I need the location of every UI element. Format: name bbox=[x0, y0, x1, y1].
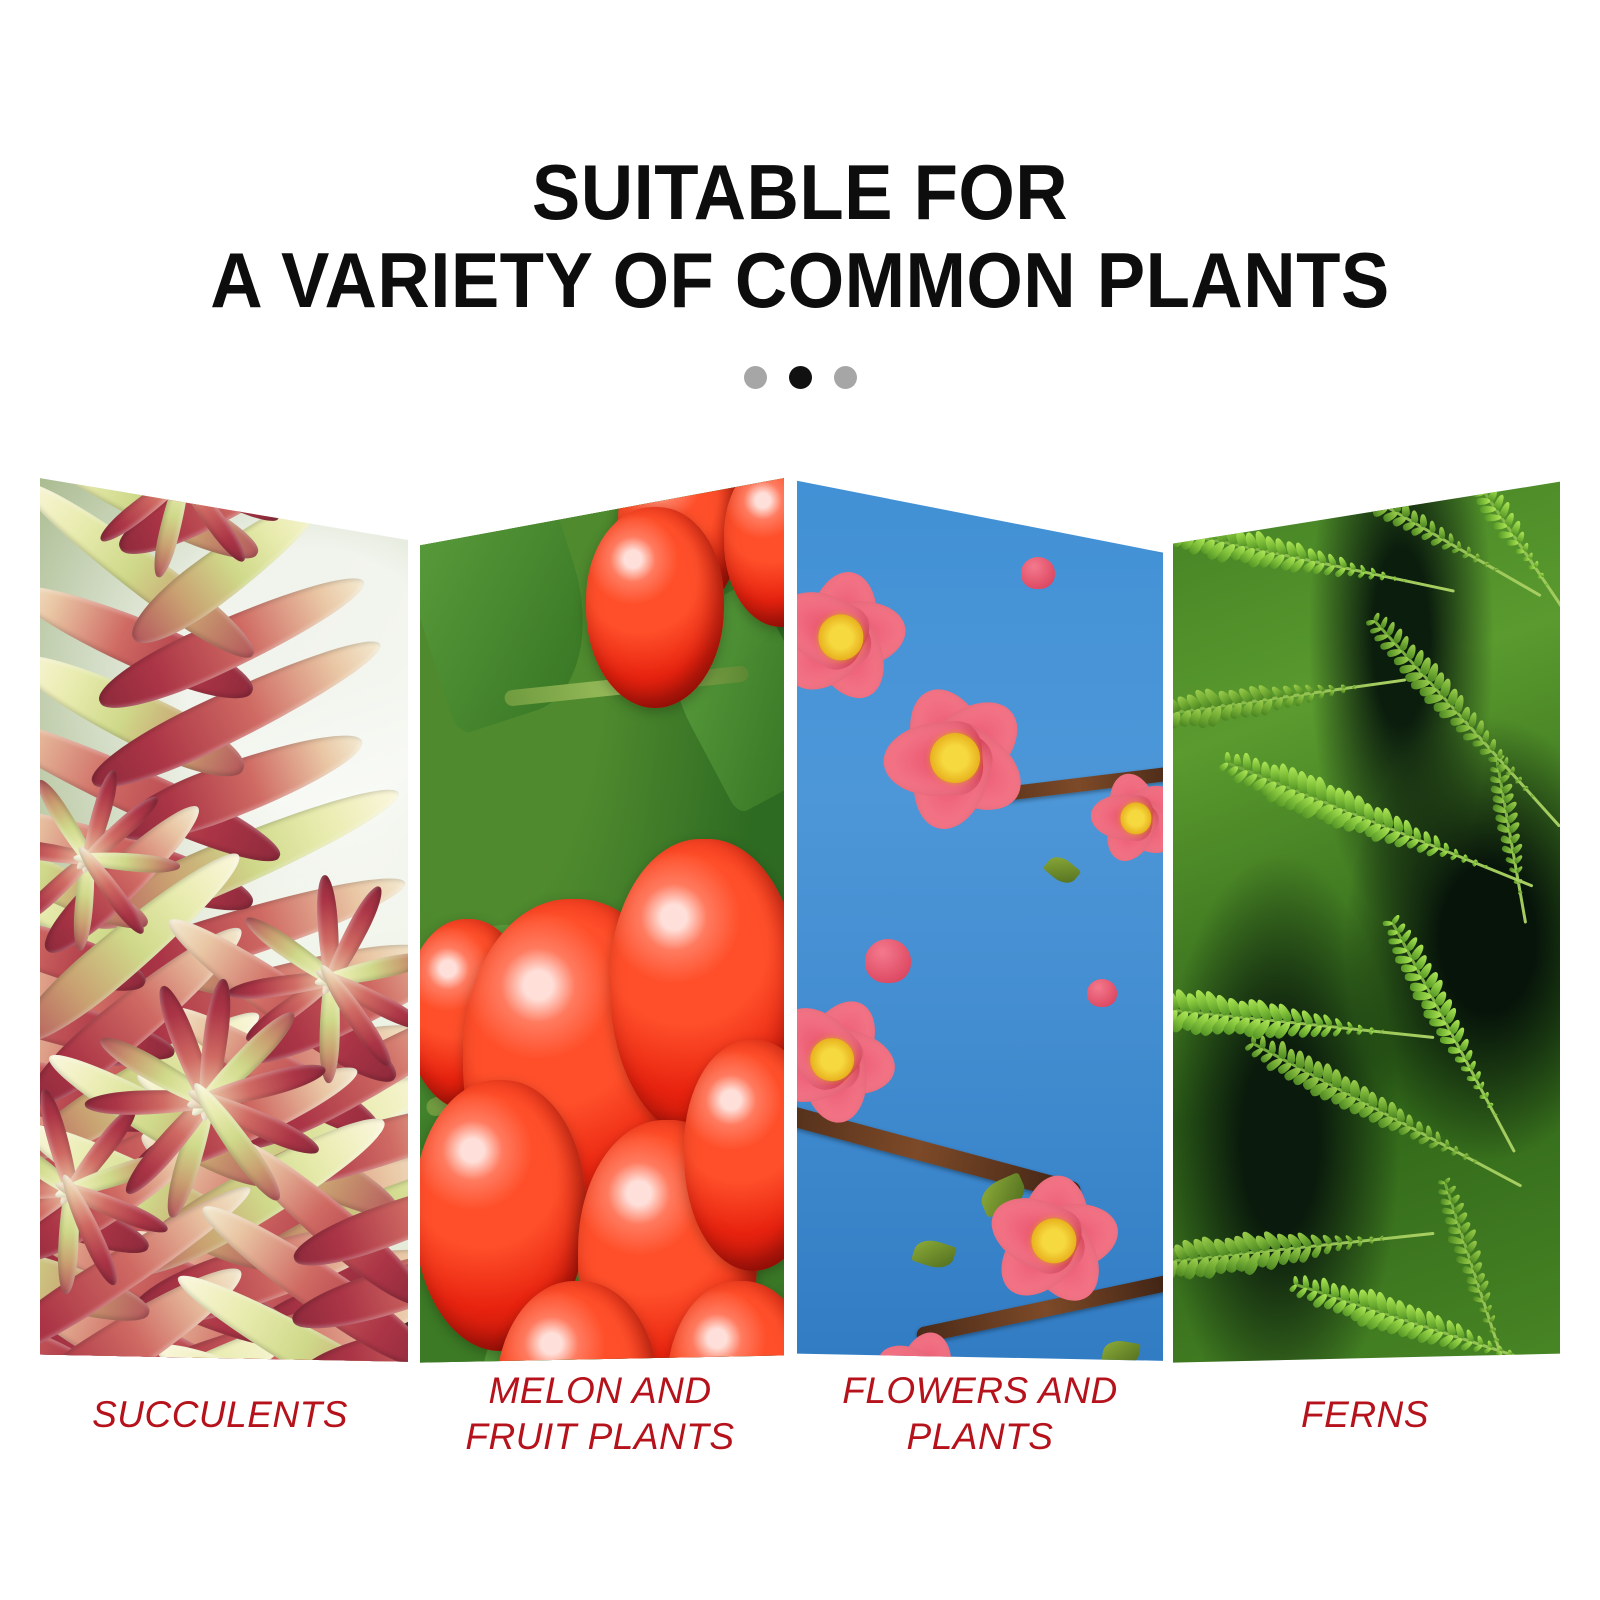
fern-pinna bbox=[1348, 470, 1357, 487]
fern-pinna bbox=[1545, 583, 1547, 587]
succulent-leaf bbox=[40, 1361, 148, 1368]
fern-pinna bbox=[1325, 478, 1346, 495]
blossom-stamens bbox=[930, 733, 980, 783]
panel-fruit-plants-image bbox=[420, 470, 784, 1368]
fern-pinna bbox=[1463, 732, 1479, 741]
blossom-petal bbox=[1113, 470, 1163, 497]
blossom-petal bbox=[1104, 470, 1159, 497]
panel-succulents-image bbox=[40, 470, 408, 1368]
fern-pinna bbox=[1462, 552, 1470, 559]
fern-pinna bbox=[1292, 470, 1309, 472]
succulent-leaf bbox=[111, 1361, 408, 1368]
caption-succulents: SUCCULENTS bbox=[20, 1392, 420, 1438]
fern-pinna bbox=[1457, 470, 1467, 471]
tomato-artwork bbox=[420, 470, 784, 1368]
fern-pinna bbox=[1374, 486, 1383, 502]
fern-pinna bbox=[1467, 481, 1479, 489]
blossom-petal bbox=[1105, 470, 1157, 519]
fern-pinna bbox=[1233, 754, 1241, 767]
fern-pinna bbox=[1507, 540, 1519, 546]
fern-pinna bbox=[1344, 488, 1363, 504]
fern-pinna bbox=[1295, 1050, 1304, 1068]
fern-pinna bbox=[1489, 756, 1499, 762]
fern-pinna bbox=[1395, 955, 1412, 963]
caption-melon-and-fruit-plants: MELON AND FRUIT PLANTS bbox=[400, 1368, 800, 1460]
fern-background bbox=[1173, 470, 1560, 1368]
fern-pinna bbox=[1173, 512, 1178, 532]
succulent-leaf bbox=[79, 470, 200, 487]
fern-pinna bbox=[1356, 474, 1365, 491]
fern-pinna bbox=[1549, 1365, 1551, 1368]
fern-pinna bbox=[1383, 491, 1392, 507]
succulent-leaf bbox=[143, 470, 198, 496]
fern-pinna bbox=[1493, 523, 1507, 530]
fern-pinna bbox=[1548, 1366, 1552, 1368]
fern-pinna bbox=[1302, 470, 1318, 476]
panel-ferns-image bbox=[1173, 470, 1560, 1368]
blossom-stamens bbox=[811, 1038, 855, 1082]
blossom-artwork bbox=[797, 470, 1163, 1368]
fern-pinna bbox=[1401, 964, 1417, 972]
fern-pinna bbox=[1365, 480, 1374, 498]
fern-artwork bbox=[1173, 470, 1560, 1368]
blossom-petal bbox=[892, 1355, 964, 1368]
fern-pinna bbox=[1330, 470, 1338, 476]
blossom-stamens bbox=[1114, 470, 1141, 490]
caption-ferns: FERNS bbox=[1160, 1392, 1570, 1438]
fern-pinna bbox=[1353, 493, 1372, 509]
fern-pinna bbox=[1287, 1049, 1295, 1064]
fern-pinna bbox=[1321, 470, 1329, 471]
fern-pinna bbox=[1311, 470, 1327, 481]
fern-pinna bbox=[1387, 929, 1397, 935]
fern-pinna bbox=[1501, 1361, 1504, 1363]
caption-flowers-and-plants: FLOWERS AND PLANTS bbox=[780, 1368, 1180, 1460]
fern-pinna bbox=[1392, 947, 1407, 954]
fern-pinna bbox=[1389, 938, 1403, 944]
fern-pinna bbox=[1498, 531, 1513, 538]
fern-pinna bbox=[1538, 1363, 1542, 1365]
fern-pinna bbox=[1366, 619, 1376, 626]
fern-pinna bbox=[1463, 473, 1474, 480]
flower-bud bbox=[1021, 557, 1055, 589]
blossom-petal bbox=[1085, 470, 1151, 501]
fern-pinna bbox=[1405, 973, 1422, 982]
fern-pinna bbox=[1175, 517, 1188, 535]
fern-pinna bbox=[1528, 1360, 1532, 1362]
flower-leaf bbox=[1011, 473, 1049, 504]
succulent-artwork bbox=[40, 470, 408, 1368]
succulent-leaf bbox=[164, 470, 286, 490]
fern-pinna bbox=[1184, 518, 1198, 537]
fern-pinna bbox=[1278, 1041, 1286, 1059]
fern-pinna bbox=[1481, 480, 1493, 494]
fern-pinna bbox=[1472, 489, 1485, 497]
fern-pinna bbox=[1537, 574, 1541, 578]
panel-flowers-image bbox=[797, 470, 1163, 1368]
fern-pinna bbox=[1242, 753, 1251, 771]
blossom-petal bbox=[1085, 470, 1151, 514]
fern-pinna bbox=[1383, 920, 1393, 925]
fern-pinna bbox=[1517, 1356, 1522, 1361]
succulent-leaf bbox=[165, 470, 245, 496]
fern-pinna bbox=[1529, 1359, 1531, 1363]
fern-pinna bbox=[1476, 473, 1487, 486]
fern-pinna bbox=[1339, 470, 1348, 481]
flower-bud bbox=[1087, 979, 1117, 1007]
fern-pinna bbox=[1334, 483, 1354, 500]
tomato bbox=[586, 507, 725, 708]
fern-pinna bbox=[1439, 1145, 1448, 1152]
fern-pinna bbox=[1193, 517, 1208, 539]
fern-pinna bbox=[1480, 748, 1492, 755]
fern-pinna bbox=[1515, 549, 1524, 554]
fern-pinna bbox=[1476, 498, 1491, 506]
fern-pinna bbox=[1518, 1354, 1523, 1358]
plant-image-strip bbox=[0, 0, 1600, 1600]
fern-pinna bbox=[1320, 473, 1337, 487]
fern-pinna bbox=[1471, 470, 1481, 477]
flower-bud bbox=[865, 939, 911, 983]
fern-pinna bbox=[1502, 1360, 1504, 1364]
fern-pinna bbox=[1539, 1362, 1541, 1365]
fern-pinna bbox=[1462, 1155, 1467, 1160]
